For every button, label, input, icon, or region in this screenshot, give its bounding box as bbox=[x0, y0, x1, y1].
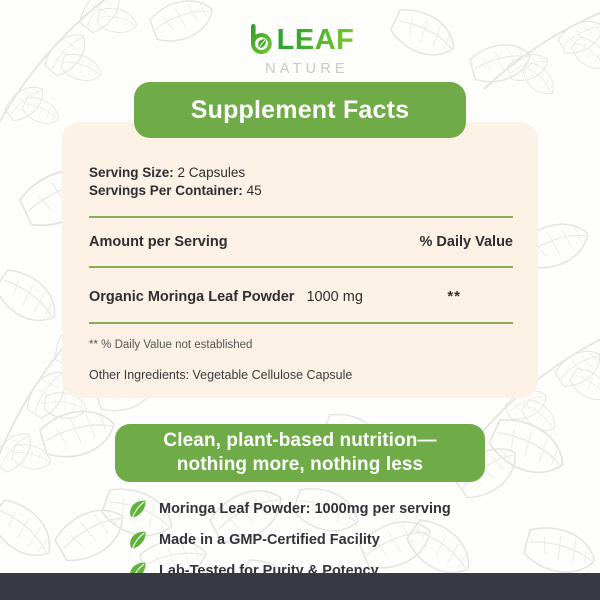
serving-size-label: Serving Size: bbox=[89, 165, 174, 180]
other-ingredients-text: Other Ingredients: Vegetable Cellulose C… bbox=[89, 368, 352, 382]
benefit-text: Made in a GMP-Certified Facility bbox=[159, 532, 380, 548]
facts-content: Serving Size: 2 Capsules Servings Per Co… bbox=[62, 122, 538, 398]
tagline-banner: Clean, plant-based nutrition— nothing mo… bbox=[115, 424, 485, 482]
ingredient-amount: 1000 mg bbox=[306, 289, 362, 305]
logo-wordmark: LEAF bbox=[277, 26, 355, 55]
tagline-line-1: Clean, plant-based nutrition— bbox=[163, 429, 436, 453]
servings-per-container-label: Servings Per Container: bbox=[89, 183, 243, 198]
page-title: Supplement Facts bbox=[191, 96, 410, 125]
logo-subtitle: NATURE bbox=[0, 61, 600, 77]
serving-size-line: Serving Size: 2 Capsules bbox=[89, 164, 262, 182]
footer-bar bbox=[0, 573, 600, 600]
leaf-icon bbox=[128, 530, 148, 550]
column-header-amount: Amount per Serving bbox=[89, 234, 228, 250]
tagline-line-2: nothing more, nothing less bbox=[177, 453, 423, 477]
brand-logo: LEAF NATURE bbox=[0, 22, 600, 77]
leaf-b-monogram-icon bbox=[246, 23, 276, 55]
column-header-daily-value: % Daily Value bbox=[420, 234, 514, 250]
servings-per-container-line: Servings Per Container: 45 bbox=[89, 182, 262, 200]
daily-value-footnote: ** % Daily Value not established bbox=[89, 339, 252, 351]
supplement-label-page: LEAF NATURE Supplement Facts Serving Siz… bbox=[0, 0, 600, 600]
divider-top bbox=[89, 216, 513, 218]
benefit-text: Moringa Leaf Powder: 1000mg per serving bbox=[159, 501, 451, 517]
table-row: Organic Moringa Leaf Powder 1000 mg ** bbox=[89, 288, 513, 305]
logo-row: LEAF bbox=[246, 22, 355, 56]
ingredient-name: Organic Moringa Leaf Powder bbox=[89, 289, 294, 305]
serving-info: Serving Size: 2 Capsules Servings Per Co… bbox=[89, 164, 262, 200]
ingredient-daily-value: ** bbox=[447, 288, 461, 305]
serving-size-value: 2 Capsules bbox=[178, 165, 246, 180]
servings-per-container-value: 45 bbox=[247, 183, 262, 198]
list-item: Moringa Leaf Powder: 1000mg per serving bbox=[128, 496, 451, 522]
leaf-icon bbox=[128, 499, 148, 519]
facts-table-header: Amount per Serving % Daily Value bbox=[89, 234, 513, 250]
divider-middle bbox=[89, 266, 513, 268]
divider-bottom bbox=[89, 322, 513, 324]
list-item: Made in a GMP-Certified Facility bbox=[128, 527, 451, 553]
